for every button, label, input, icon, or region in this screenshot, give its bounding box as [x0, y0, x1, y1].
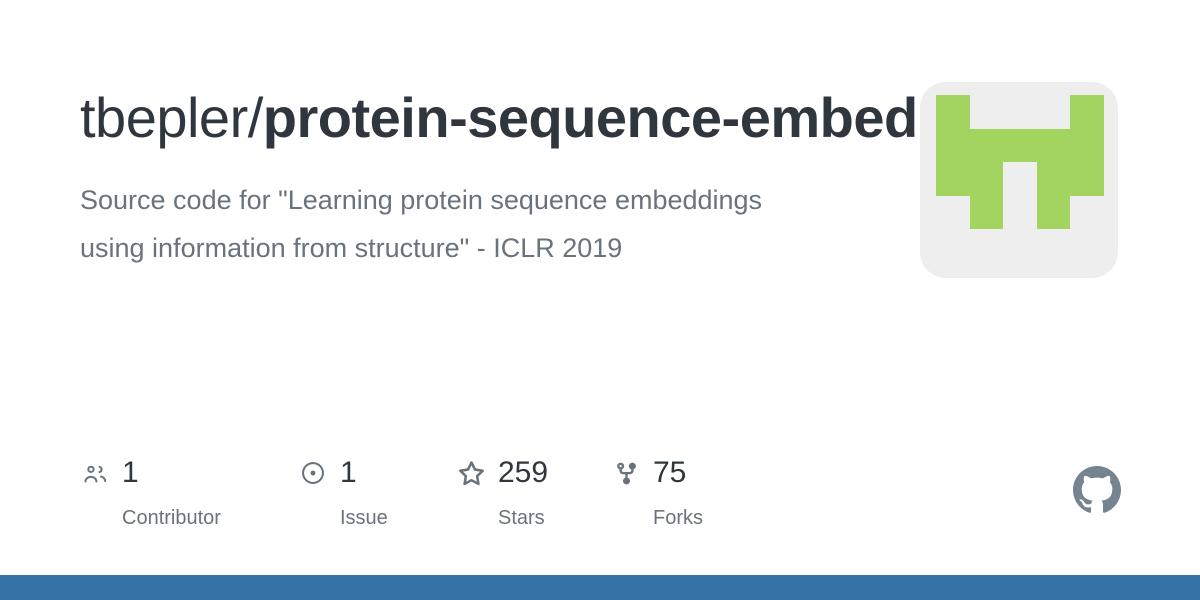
stat-issues: 1 Issue [298, 452, 456, 530]
star-icon [456, 458, 486, 488]
stat-issues-value: 1 [340, 458, 357, 488]
identicon-cell-3-0 [936, 196, 970, 230]
identicon-cell-0-1 [970, 95, 1004, 129]
people-icon [80, 458, 110, 488]
identicon-cell-2-2 [1003, 162, 1037, 196]
stat-forks: 75 Forks [611, 452, 731, 530]
identicon-cell-2-3 [1037, 162, 1071, 196]
page-title: tbepler/protein-sequence-embedding-… [80, 82, 840, 154]
stat-stars: 259 Stars [456, 452, 611, 530]
stat-stars-label: Stars [498, 506, 545, 530]
repo-owner: tbepler/ [80, 86, 263, 149]
identicon-cell-1-3 [1037, 129, 1071, 163]
stat-contributors: 1 Contributor [80, 452, 298, 530]
identicon-cell-1-1 [970, 129, 1004, 163]
repo-description: Source code for "Learning protein sequen… [80, 154, 810, 272]
identicon-cell-3-1 [970, 196, 1004, 230]
stat-issues-top: 1 [298, 452, 357, 494]
stat-contributors-value: 1 [122, 458, 139, 488]
identicon-cell-1-2 [1003, 129, 1037, 163]
identicon-cell-2-4 [1070, 162, 1104, 196]
identicon-cell-4-2 [1003, 229, 1037, 263]
github-mark-icon [1073, 466, 1121, 514]
identicon-cell-2-1 [970, 162, 1004, 196]
identicon-cell-1-4 [1070, 129, 1104, 163]
repo-forked-icon [611, 458, 641, 488]
stat-forks-top: 75 [611, 452, 686, 494]
identicon-grid [936, 95, 1104, 263]
identicon-cell-3-2 [1003, 196, 1037, 230]
identicon-cell-3-4 [1070, 196, 1104, 230]
repo-stats: 1 Contributor 1 Issue [80, 452, 731, 530]
identicon-cell-0-3 [1037, 95, 1071, 129]
stat-forks-label: Forks [653, 506, 703, 530]
stat-contributors-label: Contributor [122, 506, 221, 530]
identicon-cell-4-3 [1037, 229, 1071, 263]
stat-stars-value: 259 [498, 458, 548, 488]
identicon-cell-4-4 [1070, 229, 1104, 263]
stat-stars-top: 259 [456, 452, 548, 494]
identicon-cell-2-0 [936, 162, 970, 196]
stat-issues-label: Issue [340, 506, 388, 530]
identicon-cell-0-2 [1003, 95, 1037, 129]
identicon-cell-3-3 [1037, 196, 1071, 230]
identicon-cell-0-4 [1070, 95, 1104, 129]
stat-contributors-top: 1 [80, 452, 139, 494]
issue-opened-icon [298, 458, 328, 488]
identicon-cell-0-0 [936, 95, 970, 129]
identicon-cell-4-1 [970, 229, 1004, 263]
identicon-avatar [920, 82, 1118, 278]
stat-forks-value: 75 [653, 458, 686, 488]
identicon-cell-1-0 [936, 129, 970, 163]
repo-info: tbepler/protein-sequence-embedding-… Sou… [80, 82, 840, 272]
language-bar [0, 575, 1200, 600]
identicon-cell-4-0 [936, 229, 970, 263]
github-social-preview-card: tbepler/protein-sequence-embedding-… Sou… [0, 0, 1200, 600]
